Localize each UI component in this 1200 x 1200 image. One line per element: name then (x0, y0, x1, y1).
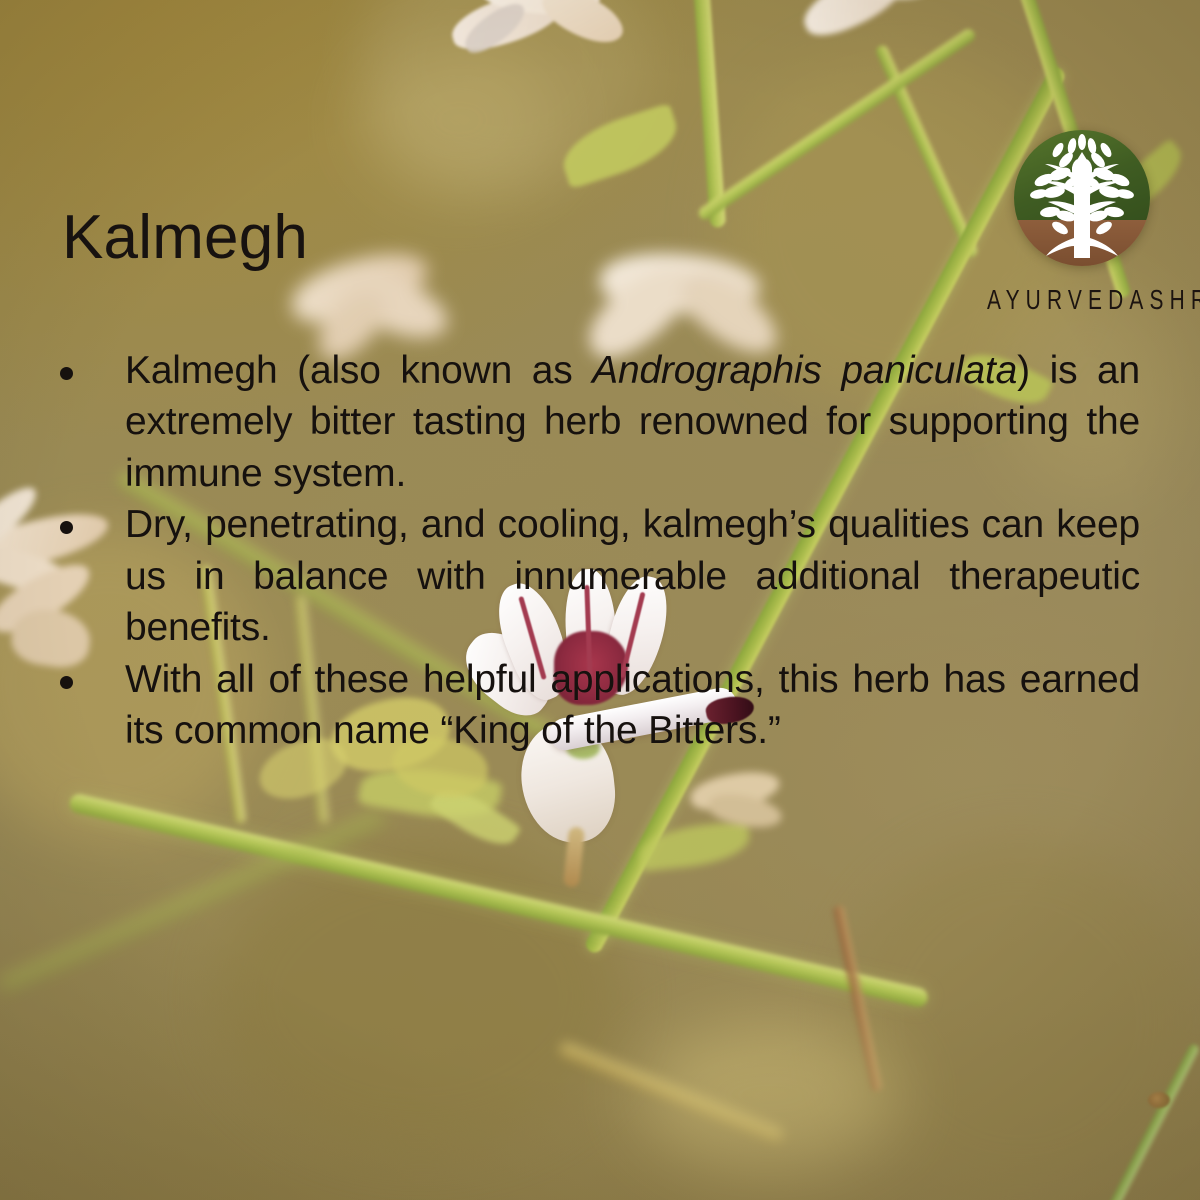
list-item: Kalmegh (also known as Andrographis pani… (60, 345, 1140, 499)
bullet-dot-icon (60, 521, 73, 534)
bullet-segment: Kalmegh (also known as (125, 349, 592, 392)
tree-in-circle-icon (1014, 130, 1150, 266)
brand-logo: AYURVEDASHREE (982, 130, 1182, 310)
brand-name: AYURVEDASHREE (987, 284, 1177, 317)
page-title: Kalmegh (62, 207, 308, 269)
bullet-segment: Dry, penetrating, and cooling, kalmegh’s… (125, 503, 1140, 649)
poster-root: Kalmegh Kalmegh (also known as Andrograp… (0, 0, 1200, 1200)
bullet-segment-italic: Andrographis paniculata (592, 349, 1017, 392)
poster-content: Kalmegh Kalmegh (also known as Andrograp… (0, 0, 1200, 1200)
bullet-text: Kalmegh (also known as Andrographis pani… (125, 345, 1140, 499)
bullet-list: Kalmegh (also known as Andrographis pani… (60, 345, 1140, 757)
list-item: With all of these helpful applications, … (60, 654, 1140, 757)
bullet-text: Dry, penetrating, and cooling, kalmegh’s… (125, 499, 1140, 653)
bullet-text: With all of these helpful applications, … (125, 654, 1140, 757)
bullet-dot-icon (60, 367, 73, 380)
list-item: Dry, penetrating, and cooling, kalmegh’s… (60, 499, 1140, 653)
bullet-dot-icon (60, 676, 73, 689)
bullet-segment: With all of these helpful applications, … (125, 658, 1140, 752)
